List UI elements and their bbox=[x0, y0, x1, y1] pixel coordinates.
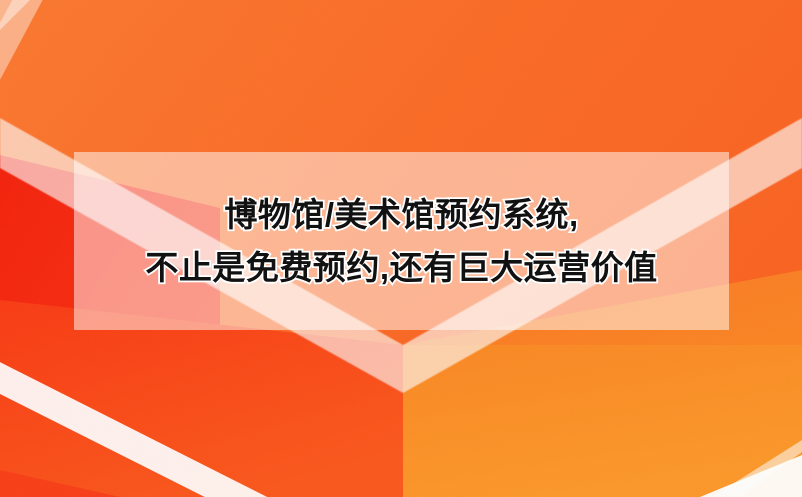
top-left-second-stripe bbox=[0, 0, 64, 136]
bottom-right-corner-stripe bbox=[700, 455, 802, 497]
top-left-corner-stripe bbox=[0, 0, 70, 60]
bottom-right-second-stripe bbox=[712, 440, 802, 497]
bottom-left-red-wedge bbox=[0, 470, 120, 497]
headline-line-2: 不止是免费预约,还有巨大运营价值 bbox=[145, 241, 657, 294]
headline-line-1: 博物馆/美术馆预约系统, bbox=[224, 188, 578, 241]
right-amber-field bbox=[403, 345, 802, 497]
headline-panel: 博物馆/美术馆预约系统, 不止是免费预约,还有巨大运营价值 bbox=[74, 152, 729, 330]
promo-banner: 博物馆/美术馆预约系统, 不止是免费预约,还有巨大运营价值 bbox=[0, 0, 802, 497]
lower-left-diagonal-stripe bbox=[0, 352, 392, 497]
